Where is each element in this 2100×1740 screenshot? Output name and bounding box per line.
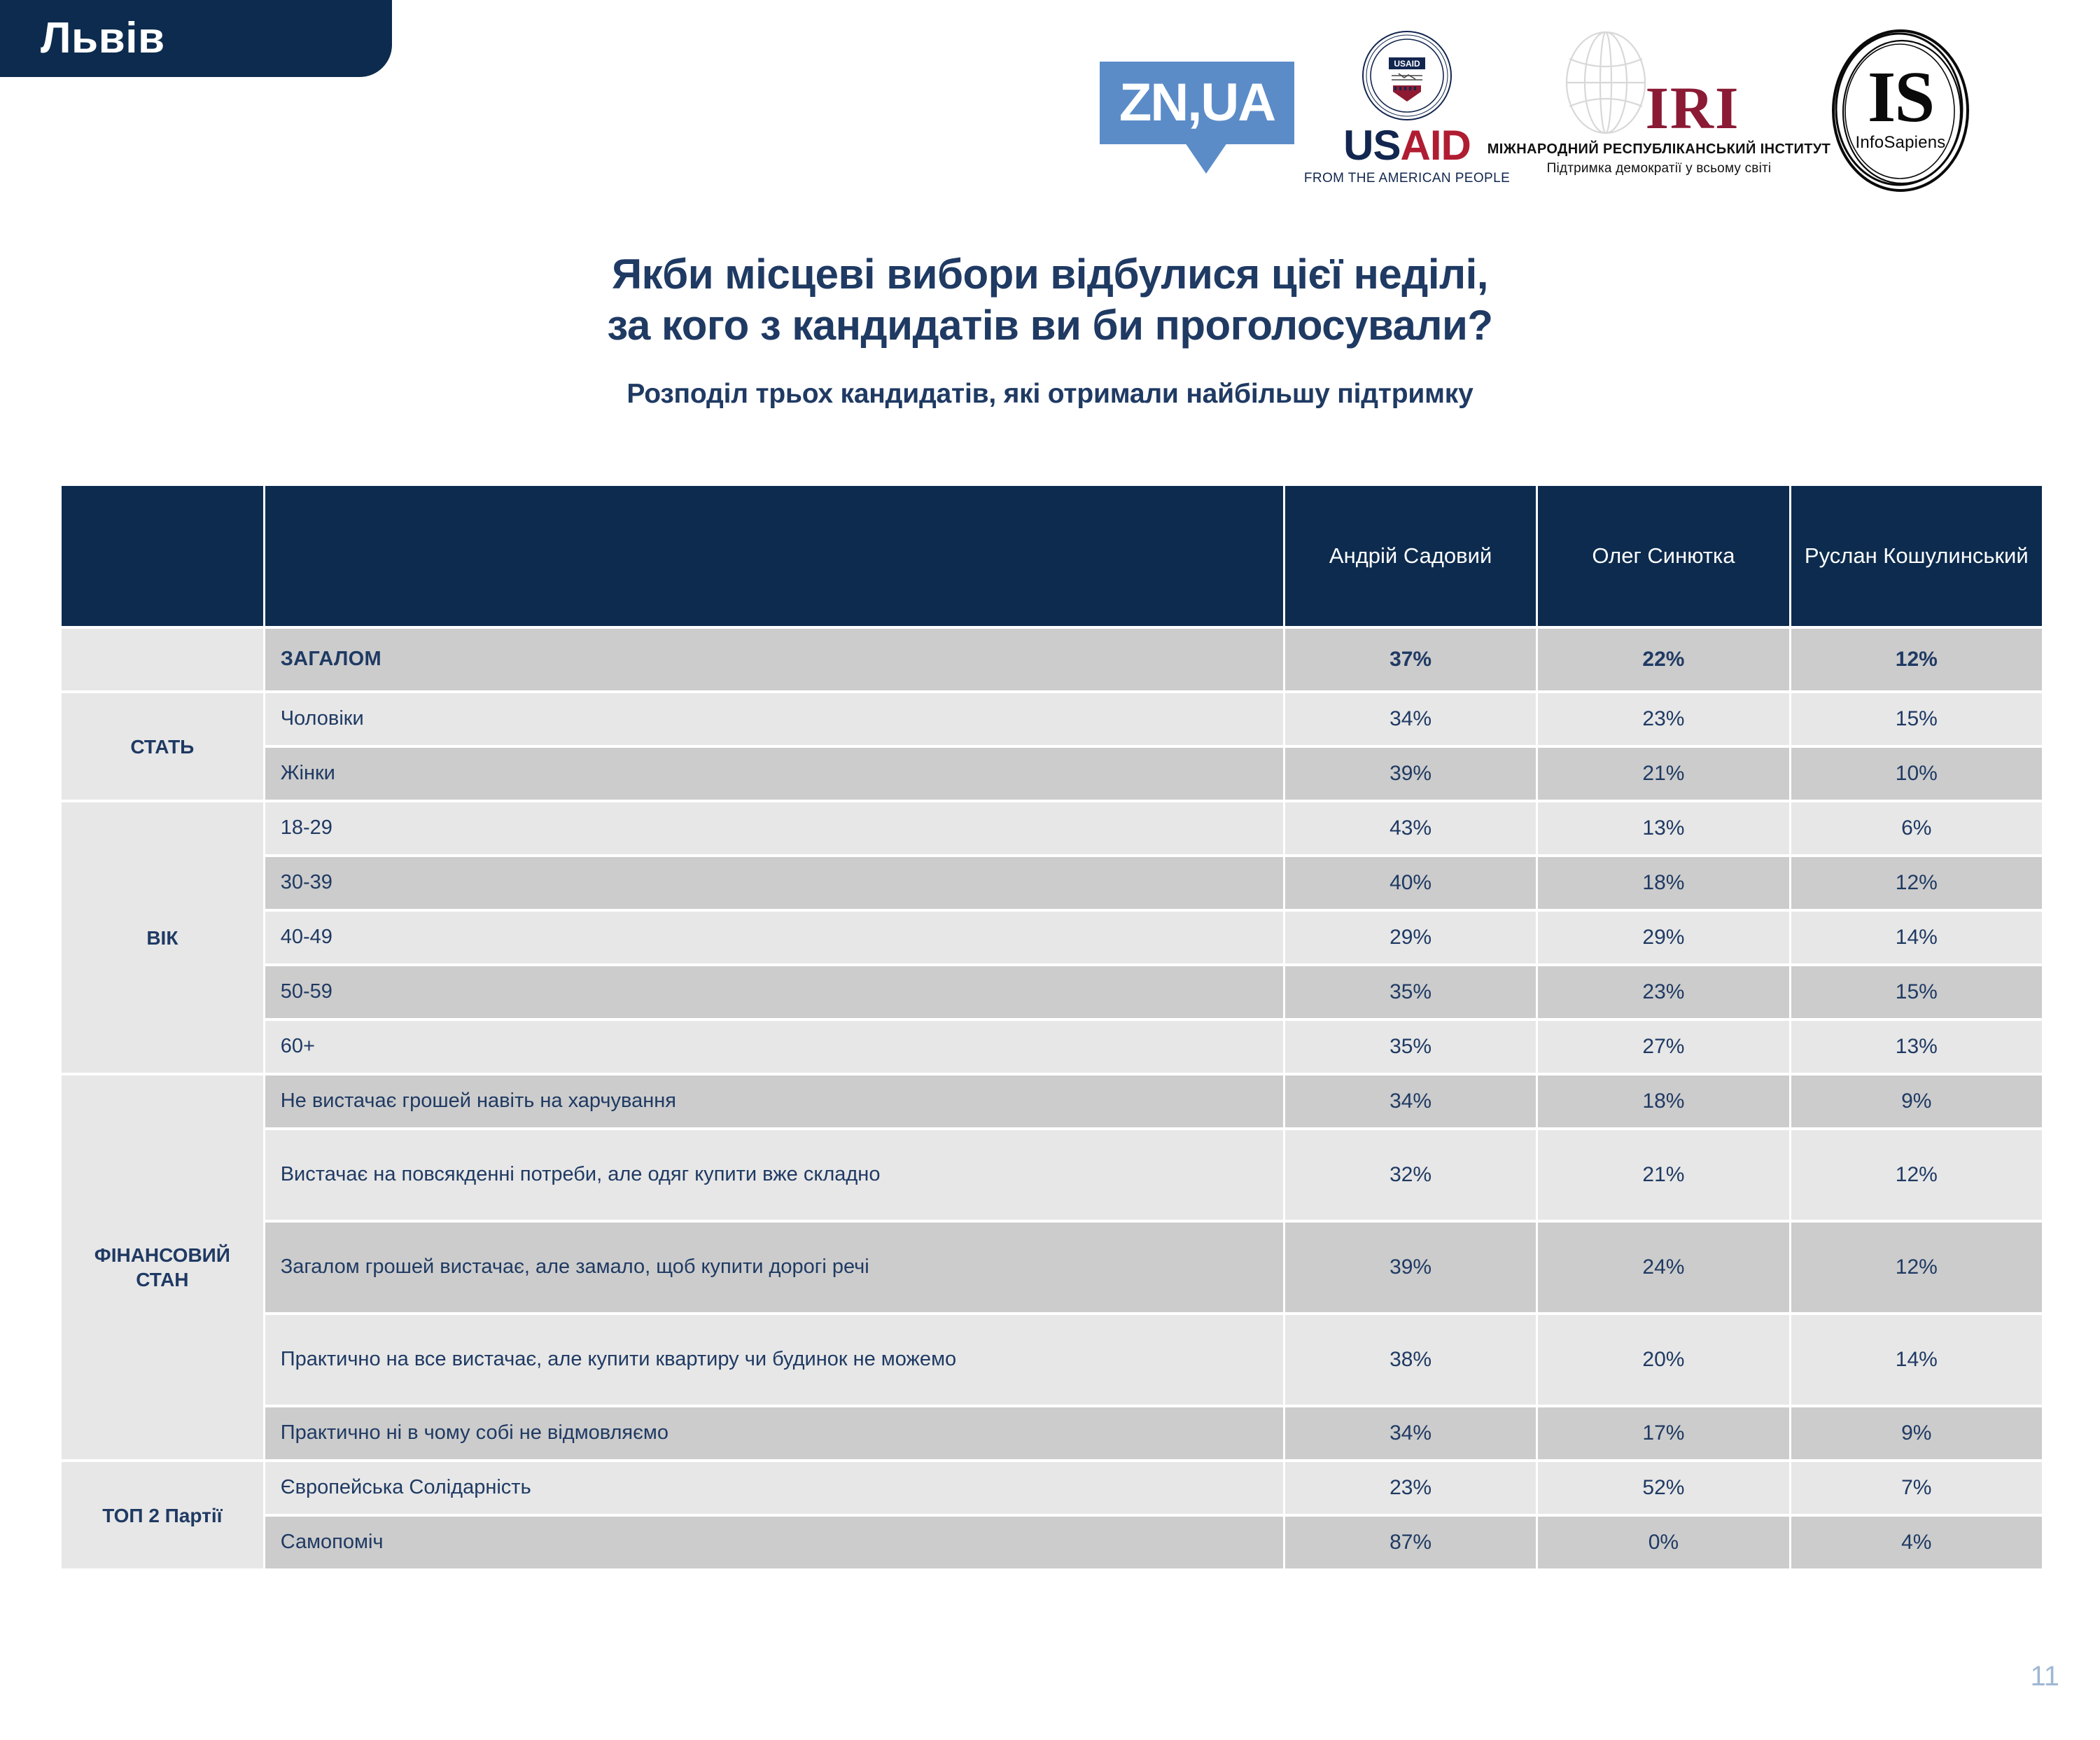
cell-candidate-2: 23% [1538, 693, 1788, 745]
city-name: Львів [41, 17, 165, 60]
header-group-blank [62, 486, 263, 626]
row-label: Вистачає на повсякденні потреби, але одя… [265, 1130, 1283, 1220]
column-header-candidate-3: Руслан Кошулинський [1791, 486, 2042, 626]
row-label: 40-49 [265, 912, 1283, 963]
table-row: ТОП 2 Партії Європейська Солідарність 23… [62, 1462, 2042, 1514]
cell-candidate-2: 0% [1538, 1517, 1788, 1568]
infosapiens-logo: IS InfoSapiens [1806, 21, 1995, 195]
table-row: ЗАГАЛОМ 37% 22% 12% [62, 629, 2042, 690]
poll-table: Андрій Садовий Олег Синютка Руслан Кошул… [59, 483, 2044, 1571]
cell-candidate-3: 9% [1791, 1407, 2042, 1459]
usaid-word-aid: AID [1401, 122, 1471, 169]
cell-candidate-1: 35% [1285, 966, 1536, 1018]
svg-text:USAID: USAID [1394, 59, 1420, 69]
table-row: ВІК 18-29 43% 13% 6% [62, 802, 2042, 854]
cell-candidate-2: 22% [1538, 629, 1788, 690]
row-label: Чоловіки [265, 693, 1283, 745]
row-label: 18-29 [265, 802, 1283, 854]
row-group-label-parties: ТОП 2 Партії [62, 1462, 263, 1568]
table-body: ЗАГАЛОМ 37% 22% 12% СТАТЬ Чоловіки 34% 2… [62, 629, 2042, 1568]
cell-candidate-1: 34% [1285, 1076, 1536, 1127]
row-group-label-gender: СТАТЬ [62, 693, 263, 800]
cell-candidate-3: 14% [1791, 1315, 2042, 1405]
znua-box: ZN,UA [1100, 62, 1294, 144]
iri-subtitle-line1: МІЖНАРОДНИЙ РЕСПУБЛІКАНСЬКИЙ ІНСТИТУТ [1487, 141, 1831, 158]
page-subtitle: Розподіл трьох кандидатів, які отримали … [0, 379, 2100, 410]
usaid-wordmark: USAID [1343, 125, 1471, 167]
row-label: 60+ [265, 1021, 1283, 1073]
row-group-label-age: ВІК [62, 802, 263, 1073]
cell-candidate-2: 18% [1538, 857, 1788, 909]
znua-logo: ZN,UA [1092, 21, 1302, 144]
cell-candidate-2: 24% [1538, 1223, 1788, 1312]
row-label: Загалом грошей вистачає, але замало, щоб… [265, 1223, 1283, 1312]
cell-candidate-3: 14% [1791, 912, 2042, 963]
table-head: Андрій Садовий Олег Синютка Руслан Кошул… [62, 486, 2042, 626]
table-row: Жінки 39% 21% 10% [62, 748, 2042, 800]
cell-candidate-1: 34% [1285, 693, 1536, 745]
cell-candidate-3: 12% [1791, 857, 2042, 909]
row-group-label-financial: ФІНАНСОВИЙ СТАН [62, 1076, 263, 1459]
cell-candidate-2: 21% [1538, 748, 1788, 800]
header-label-blank [265, 486, 1283, 626]
table-row: Вистачає на повсякденні потреби, але одя… [62, 1130, 2042, 1220]
iri-logo: IRI МІЖНАРОДНИЙ РЕСПУБЛІКАНСЬКИЙ ІНСТИТУ… [1512, 21, 1806, 176]
cell-candidate-1: 37% [1285, 629, 1536, 690]
cell-candidate-1: 35% [1285, 1021, 1536, 1073]
row-label: Практично на все вистачає, але купити кв… [265, 1315, 1283, 1405]
table-row: Практично ні в чому собі не відмовляємо … [62, 1407, 2042, 1459]
infosapiens-mark: IS InfoSapiens [1827, 27, 1974, 195]
cell-candidate-2: 20% [1538, 1315, 1788, 1405]
logo-strip: ZN,UA USAID [1092, 21, 2086, 210]
row-label: Практично ні в чому собі не відмовляємо [265, 1407, 1283, 1459]
cell-candidate-3: 15% [1791, 966, 2042, 1018]
poll-table-container: Андрій Садовий Олег Синютка Руслан Кошул… [59, 483, 2044, 1571]
cell-candidate-1: 40% [1285, 857, 1536, 909]
cell-candidate-3: 10% [1791, 748, 2042, 800]
row-label: 50-59 [265, 966, 1283, 1018]
cell-candidate-3: 12% [1791, 629, 2042, 690]
infosapiens-name: InfoSapiens [1856, 133, 1946, 153]
column-header-candidate-2: Олег Синютка [1538, 486, 1788, 626]
cell-candidate-2: 29% [1538, 912, 1788, 963]
cell-candidate-2: 23% [1538, 966, 1788, 1018]
cell-candidate-3: 12% [1791, 1130, 2042, 1220]
row-group-label [62, 629, 263, 690]
table-row: 50-59 35% 23% 15% [62, 966, 2042, 1018]
cell-candidate-3: 15% [1791, 693, 2042, 745]
table-header-row: Андрій Садовий Олег Синютка Руслан Кошул… [62, 486, 2042, 626]
iri-letters: IRI [1578, 80, 1739, 137]
cell-candidate-1: 23% [1285, 1462, 1536, 1514]
table-row: 30-39 40% 18% 12% [62, 857, 2042, 909]
page-title: Якби місцеві вибори відбулися цієї неділ… [0, 249, 2100, 351]
row-label: Не вистачає грошей навіть на харчування [265, 1076, 1283, 1127]
infosapiens-letters: IS [1868, 64, 1933, 130]
table-row: 40-49 29% 29% 14% [62, 912, 2042, 963]
cell-candidate-3: 6% [1791, 802, 2042, 854]
cell-candidate-1: 32% [1285, 1130, 1536, 1220]
column-header-candidate-1: Андрій Садовий [1285, 486, 1536, 626]
cell-candidate-2: 21% [1538, 1130, 1788, 1220]
table-row: Практично на все вистачає, але купити кв… [62, 1315, 2042, 1405]
usaid-logo: USAID USAID FROM THE AMERICAN PEOPLE [1302, 21, 1512, 186]
cell-candidate-2: 17% [1538, 1407, 1788, 1459]
iri-mark: IRI [1533, 32, 1785, 137]
cell-candidate-2: 27% [1538, 1021, 1788, 1073]
cell-candidate-2: 13% [1538, 802, 1788, 854]
row-label: 30-39 [265, 857, 1283, 909]
cell-candidate-1: 87% [1285, 1517, 1536, 1568]
table-row: ФІНАНСОВИЙ СТАН Не вистачає грошей навіт… [62, 1076, 2042, 1127]
city-badge: Львів [0, 0, 392, 77]
cell-candidate-3: 12% [1791, 1223, 2042, 1312]
row-label: ЗАГАЛОМ [265, 629, 1283, 690]
cell-candidate-3: 9% [1791, 1076, 2042, 1127]
usaid-seal-icon: USAID [1361, 29, 1453, 122]
usaid-word-us: US [1343, 122, 1400, 169]
cell-candidate-1: 39% [1285, 1223, 1536, 1312]
cell-candidate-1: 39% [1285, 748, 1536, 800]
row-label: Самопоміч [265, 1517, 1283, 1568]
speech-bubble-tail-icon [1185, 143, 1227, 174]
page-number: 11 [2030, 1661, 2059, 1692]
page-title-line1: Якби місцеві вибори відбулися цієї неділ… [0, 249, 2100, 300]
table-row: 60+ 35% 27% 13% [62, 1021, 2042, 1073]
page-title-line2: за кого з кандидатів ви би проголосували… [0, 300, 2100, 351]
cell-candidate-2: 52% [1538, 1462, 1788, 1514]
znua-wordmark: ZN,UA [1119, 76, 1275, 130]
cell-candidate-1: 34% [1285, 1407, 1536, 1459]
cell-candidate-3: 4% [1791, 1517, 2042, 1568]
table-row: Самопоміч 87% 0% 4% [62, 1517, 2042, 1568]
iri-subtitle-line2: Підтримка демократії у всьому світі [1547, 161, 1772, 176]
cell-candidate-1: 29% [1285, 912, 1536, 963]
row-label: Європейська Солідарність [265, 1462, 1283, 1514]
row-label: Жінки [265, 748, 1283, 800]
cell-candidate-3: 13% [1791, 1021, 2042, 1073]
title-block: Якби місцеві вибори відбулися цієї неділ… [0, 249, 2100, 410]
cell-candidate-2: 18% [1538, 1076, 1788, 1127]
table-row: СТАТЬ Чоловіки 34% 23% 15% [62, 693, 2042, 745]
cell-candidate-1: 38% [1285, 1315, 1536, 1405]
table-row: Загалом грошей вистачає, але замало, щоб… [62, 1223, 2042, 1312]
cell-candidate-3: 7% [1791, 1462, 2042, 1514]
usaid-tagline: FROM THE AMERICAN PEOPLE [1304, 171, 1510, 186]
cell-candidate-1: 43% [1285, 802, 1536, 854]
